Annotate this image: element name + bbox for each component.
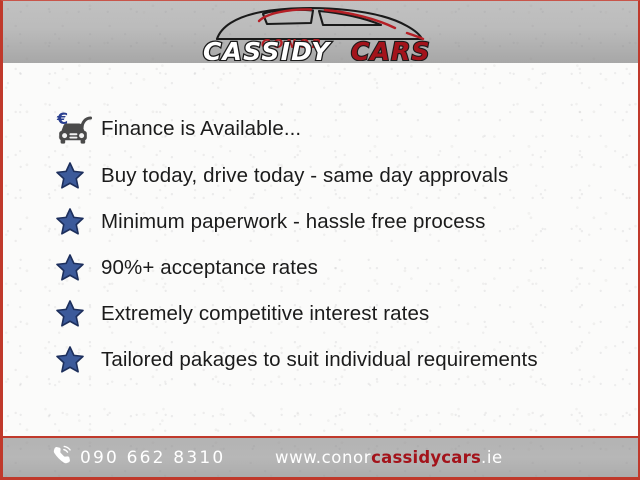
feature-list: € Finance is Available... Buy today, dri… [55, 105, 620, 383]
website-url[interactable]: www.conorcassidycars.ie [275, 448, 503, 467]
url-prefix: www.conor [275, 448, 371, 467]
logo-accent-word: CARS [351, 37, 431, 61]
logo-main-word: CASSIDY [203, 37, 332, 61]
sports-car-silhouette-icon [217, 8, 422, 39]
phone-ringing-icon [51, 444, 73, 471]
star-icon [55, 293, 101, 335]
list-item-text: Extremely competitive interest rates [101, 302, 429, 326]
list-item: Minimum paperwork - hassle free process [55, 199, 620, 245]
star-icon [55, 247, 101, 289]
advert-banner: CONOR CASSIDY CARS [0, 0, 640, 480]
star-icon [55, 155, 101, 197]
list-item-text: Minimum paperwork - hassle free process [101, 210, 485, 234]
footer-band: 090 662 8310 www.conorcassidycars.ie [3, 436, 638, 477]
url-highlight: cassidycars [371, 448, 481, 467]
url-suffix: .ie [481, 448, 503, 467]
list-item: Buy today, drive today - same day approv… [55, 153, 620, 199]
list-item: Tailored pakages to suit individual requ… [55, 337, 620, 383]
car-euro-icon: € [55, 108, 101, 150]
list-item-text: 90%+ acceptance rates [101, 256, 318, 280]
header-band: CONOR CASSIDY CARS [3, 1, 638, 63]
phone-number: 090 662 8310 [80, 448, 225, 468]
list-item: 90%+ acceptance rates [55, 245, 620, 291]
list-item-text: Buy today, drive today - same day approv… [101, 164, 508, 188]
main-content: € Finance is Available... Buy today, dri… [3, 63, 638, 435]
brand-logo[interactable]: CONOR CASSIDY CARS [201, 3, 441, 61]
list-item-text: Finance is Available... [101, 117, 301, 141]
list-item: € Finance is Available... [55, 105, 620, 153]
star-icon [55, 339, 101, 381]
phone-contact[interactable]: 090 662 8310 [51, 444, 225, 471]
svg-text:€: € [56, 110, 68, 128]
list-item-text: Tailored pakages to suit individual requ… [101, 348, 538, 372]
star-icon [55, 201, 101, 243]
list-item: Extremely competitive interest rates [55, 291, 620, 337]
logo-artwork: CONOR CASSIDY CARS [201, 3, 441, 61]
